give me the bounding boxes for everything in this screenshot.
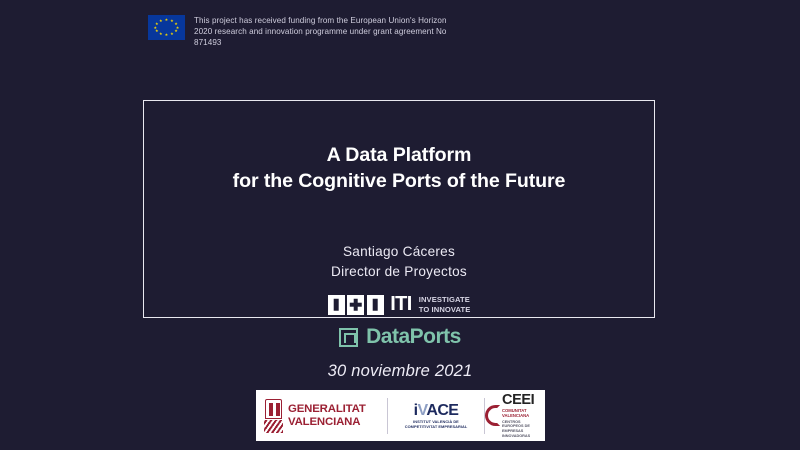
dataports-logo: DataPorts xyxy=(0,325,800,349)
iti-tagline: INVESTIGATE TO INNOVATE xyxy=(419,295,471,313)
iti-square-i-left-icon xyxy=(328,295,345,315)
iti-tagline-line-2: TO INNOVATE xyxy=(419,305,471,314)
crest-helmet-shape xyxy=(265,399,282,419)
eu-flag-star-10: ★ xyxy=(154,25,158,29)
sponsor-generalitat-valenciana: GENERALITAT VALENCIANA xyxy=(256,399,387,433)
ceei-fullname: CENTROS EUROPEOS DE EMPRESAS INNOVADORAS xyxy=(502,420,539,438)
ceei-arc-mark-icon xyxy=(485,405,500,426)
gva-line-1: GENERALITAT xyxy=(288,403,366,416)
title-frame: A Data Platform for the Cognitive Ports … xyxy=(143,100,655,318)
iti-square-mark-icon xyxy=(328,295,384,315)
dataports-square-icon xyxy=(339,328,358,347)
eu-flag-star-8: ★ xyxy=(159,32,163,36)
generalitat-valenciana-wordmark: GENERALITAT VALENCIANA xyxy=(288,403,366,428)
european-union-flag-icon: ★★★★★★★★★★★★ xyxy=(148,15,185,40)
ceei-fullname-line-1: CENTROS EUROPEOS DE xyxy=(502,420,539,429)
dataports-wordmark: DataPorts xyxy=(366,325,461,349)
generalitat-valenciana-crest-icon xyxy=(263,399,284,433)
eu-flag-star-12: ★ xyxy=(159,19,163,23)
ceei-wordmark: CEEI xyxy=(502,393,539,408)
sponsor-ivace: iVACE INSTITUT VALENCIÀ DE COMPETITIVITA… xyxy=(388,402,484,430)
eu-flag-star-7: ★ xyxy=(165,33,169,37)
ceei-fullname-line-2: EMPRESAS INNOVADORAS xyxy=(502,429,539,438)
ivace-letters-ace: ACE xyxy=(426,402,458,419)
eu-funding-banner: ★★★★★★★★★★★★ This project has received f… xyxy=(148,15,466,48)
iti-logo: ITI INVESTIGATE TO INNOVATE xyxy=(328,293,471,316)
ceei-region: COMUNITAT VALENCIANA xyxy=(502,408,539,418)
crest-stripes-shape xyxy=(264,420,283,433)
iti-glyph-i-left xyxy=(334,298,339,311)
eu-funding-statement: This project has received funding from t… xyxy=(194,15,466,48)
gva-line-2: VALENCIANA xyxy=(288,416,366,429)
presenter-name: Santiago Cáceres xyxy=(328,242,471,262)
presenter-block: Santiago Cáceres Director de Proyectos I… xyxy=(328,242,471,316)
iti-wordmark: ITI xyxy=(390,293,412,316)
ivace-subtitle: INSTITUT VALENCIÀ DE COMPETITIVITAT EMPR… xyxy=(391,420,481,429)
eu-flag-star-5: ★ xyxy=(174,29,178,33)
iti-tagline-line-1: INVESTIGATE xyxy=(419,295,471,304)
eu-flag-star-1: ★ xyxy=(165,18,169,22)
title-line-2: for the Cognitive Ports of the Future xyxy=(233,168,566,194)
presenter-role: Director de Proyectos xyxy=(328,262,471,282)
slide-date: 30 noviembre 2021 xyxy=(0,362,800,381)
ivace-subtitle-line-2: COMPETITIVITAT EMPRESARIAL xyxy=(391,425,481,430)
ivace-wordmark: iVACE xyxy=(391,402,481,419)
title-line-1: A Data Platform xyxy=(233,142,566,168)
iti-square-plus-icon xyxy=(347,295,364,315)
iti-square-i-right-icon xyxy=(367,295,384,315)
iti-glyph-plus-horizontal xyxy=(349,302,362,307)
eu-flag-star-6: ★ xyxy=(170,32,174,36)
ceei-region-line-2: VALENCIANA xyxy=(502,413,539,418)
sponsor-ceei: CEEI COMUNITAT VALENCIANA CENTROS EUROPE… xyxy=(485,393,545,438)
sponsor-logo-strip: GENERALITAT VALENCIANA iVACE INSTITUT VA… xyxy=(256,390,545,441)
eu-flag-star-9: ★ xyxy=(155,29,159,33)
iti-glyph-i-right xyxy=(373,298,378,311)
page-title: A Data Platform for the Cognitive Ports … xyxy=(233,142,566,194)
ceei-textblock: CEEI COMUNITAT VALENCIANA CENTROS EUROPE… xyxy=(502,393,539,438)
